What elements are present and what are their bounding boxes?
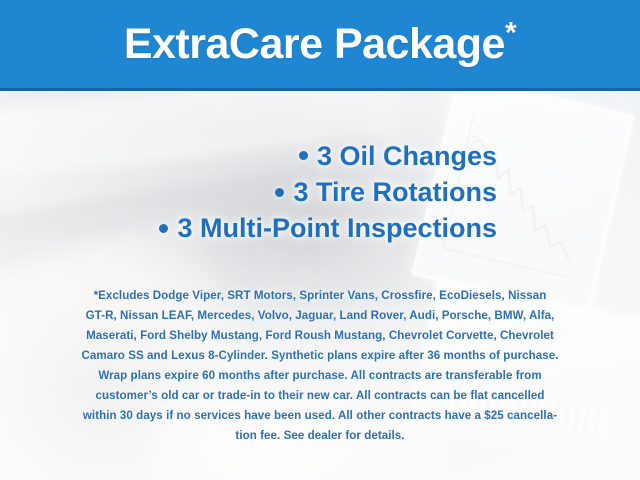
disclaimer-line: Maserati, Ford Shelby Mustang, Ford Rous…: [22, 326, 618, 346]
extracare-package-ad: ExtraCare Package* 3 Oil Changes 3 Tire …: [0, 0, 640, 480]
disclaimer-line: customer’s old car or trade-in to their …: [22, 386, 618, 406]
disclaimer-text: *Excludes Dodge Viper, SRT Motors, Sprin…: [22, 286, 618, 446]
disclaimer-line: GT-R, Nissan LEAF, Mercedes, Volvo, Jagu…: [22, 306, 618, 326]
disclaimer-line: within 30 days if no services have been …: [22, 406, 618, 426]
benefit-label: 3 Oil Changes: [317, 141, 497, 171]
disclaimer-line: Wrap plans expire 60 months after purcha…: [22, 366, 618, 386]
benefit-label: 3 Multi-Point Inspections: [177, 213, 497, 243]
benefit-label: 3 Tire Rotations: [293, 177, 497, 207]
list-item: 3 Multi-Point Inspections: [0, 210, 497, 246]
disclaimer-line: Camaro SS and Lexus 8-Cylinder. Syntheti…: [22, 346, 618, 366]
benefits-list: 3 Oil Changes 3 Tire Rotations 3 Multi-P…: [0, 138, 497, 247]
disclaimer-line: *Excludes Dodge Viper, SRT Motors, Sprin…: [22, 286, 618, 306]
list-item: 3 Oil Changes: [0, 138, 497, 174]
bullet-dot-icon: [299, 151, 308, 160]
header-banner: ExtraCare Package*: [0, 0, 640, 91]
page-title-text: ExtraCare Package: [124, 20, 505, 68]
bullet-dot-icon: [275, 188, 284, 197]
page-title-asterisk: *: [505, 16, 516, 49]
list-item: 3 Tire Rotations: [0, 174, 497, 210]
bullet-dot-icon: [159, 224, 168, 233]
page-title: ExtraCare Package*: [124, 23, 516, 66]
disclaimer-line: tion fee. See dealer for details.: [22, 426, 618, 446]
